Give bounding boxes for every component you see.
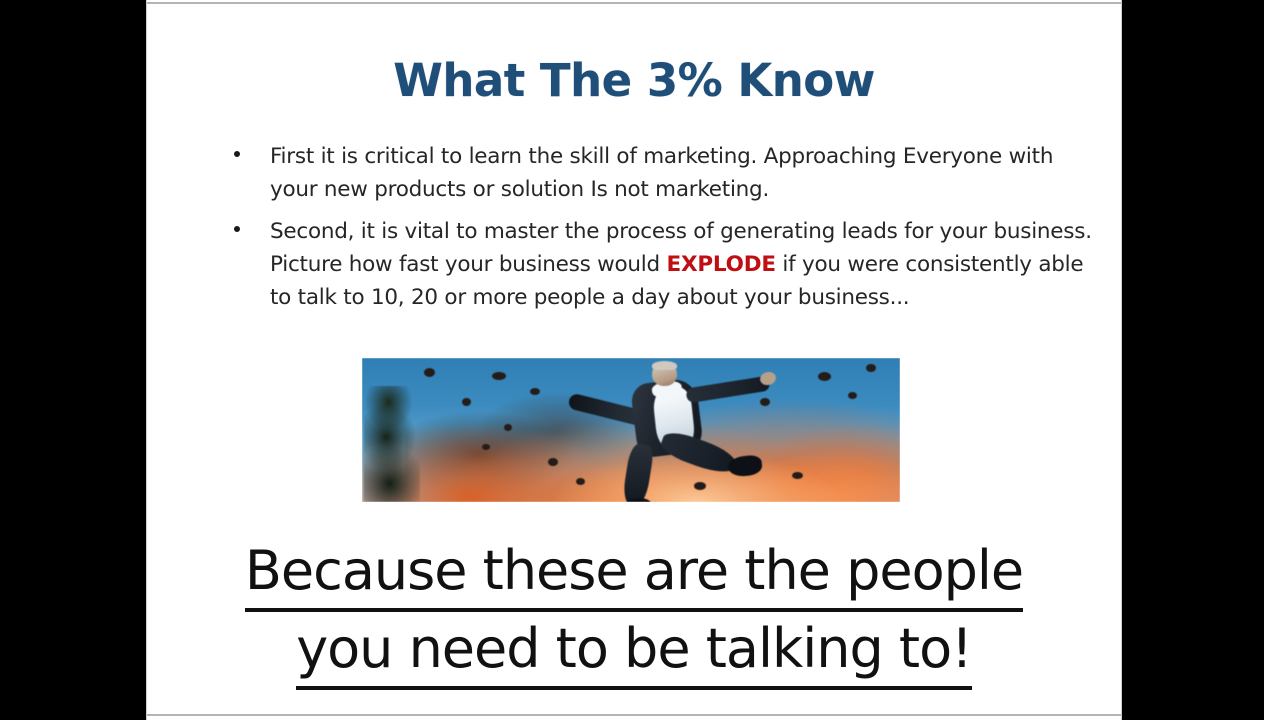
slide-title: What The 3% Know <box>146 58 1122 103</box>
photo-debris <box>760 398 770 406</box>
photo-debris <box>530 388 540 395</box>
slide-top-hairline <box>146 2 1122 4</box>
photo-debris <box>866 364 876 372</box>
bullet-text-2: Second, it is vital to master the proces… <box>270 215 1096 314</box>
list-item: First it is critical to learn the skill … <box>186 140 1096 206</box>
bullet-dot-icon <box>234 151 240 157</box>
photo-debris <box>792 472 803 479</box>
slide-left-edge <box>146 0 147 720</box>
photo-man-left-shoe <box>626 498 652 502</box>
callout-line-2-wrap: you need to be talking to! <box>146 613 1122 690</box>
bullet-text-1: First it is critical to learn the skill … <box>270 140 1096 206</box>
callout-line-2: you need to be talking to! <box>296 613 972 690</box>
photo-debris <box>848 392 857 399</box>
callout-line-1: Because these are the people <box>245 535 1023 612</box>
video-frame: What The 3% Know First it is critical to… <box>0 0 1264 720</box>
photo-tree <box>364 386 420 502</box>
bullet-list: First it is critical to learn the skill … <box>186 140 1096 323</box>
explode-emphasis: EXPLODE <box>666 252 775 277</box>
businessman-leaping-from-explosion-photo <box>362 358 900 502</box>
photo-man-hair <box>652 361 677 370</box>
photo-debris <box>462 398 471 406</box>
slide-bottom-hairline <box>146 714 1122 716</box>
callout-text: Because these are the people you need to… <box>146 535 1122 690</box>
photo-debris <box>424 368 435 377</box>
photo-debris <box>818 372 831 381</box>
photo-debris <box>492 372 506 380</box>
letterbox-bar-left <box>0 0 146 720</box>
photo-debris <box>504 424 512 431</box>
letterbox-bar-right <box>1122 0 1264 720</box>
presentation-slide: What The 3% Know First it is critical to… <box>146 0 1122 720</box>
photo-businessman <box>560 362 750 502</box>
bullet-dot-icon <box>234 226 240 232</box>
list-item: Second, it is vital to master the proces… <box>186 215 1096 314</box>
photo-debris <box>482 444 490 450</box>
callout-line-1-wrap: Because these are the people <box>146 535 1122 612</box>
photo-debris <box>548 458 558 466</box>
photo-man-left-leg <box>621 443 654 502</box>
